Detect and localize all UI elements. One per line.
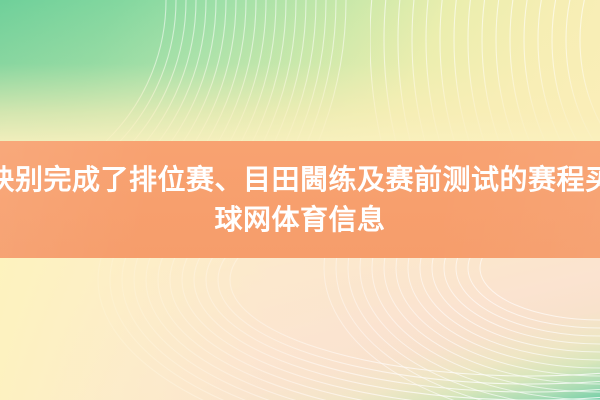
headline-text-block: 诀别完成了排位赛、目田閪练及赛前测试的赛程买 球网体育信息: [0, 141, 600, 258]
background-top-fade: [0, 0, 600, 141]
promo-banner: 诀别完成了排位赛、目田閪练及赛前测试的赛程买 球网体育信息: [0, 0, 600, 400]
background-bottom-left-wash: [0, 258, 600, 400]
headline-line-1: 诀别完成了排位赛、目田閪练及赛前测试的赛程买: [0, 160, 600, 200]
headline-line-2: 球网体育信息: [214, 200, 385, 240]
